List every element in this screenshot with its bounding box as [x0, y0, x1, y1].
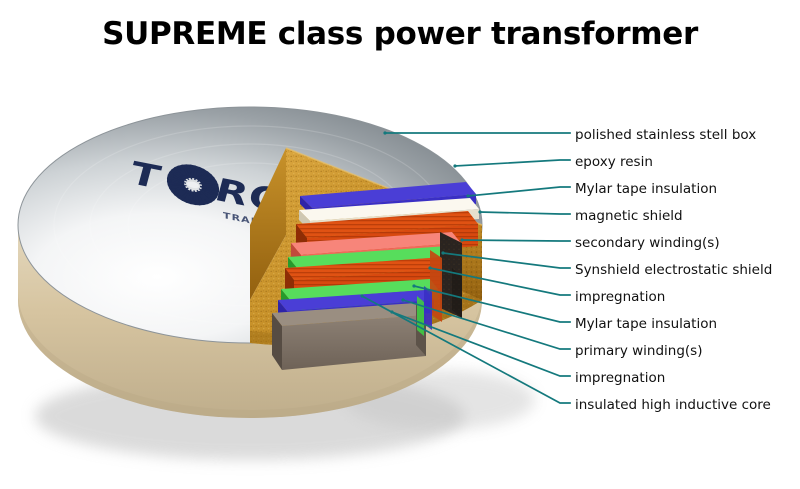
leader-line	[455, 160, 570, 166]
leader-anchor-dot	[460, 238, 463, 241]
callout-label: Mylar tape insulation	[575, 182, 717, 196]
leader-anchor-dot	[383, 131, 386, 134]
logo-wordmark: T	[131, 154, 163, 197]
leader-line	[468, 187, 570, 196]
leader-anchor-dot	[453, 164, 456, 167]
callout-label: polished stainless stell box	[575, 128, 756, 142]
leader-anchor-dot	[428, 266, 431, 269]
callout-label: secondary winding(s)	[575, 236, 720, 250]
callout-label: impregnation	[575, 290, 665, 304]
callout-label: insulated high inductive core	[575, 398, 771, 412]
leader-anchor-dot	[412, 284, 415, 287]
leader-anchor-dot	[441, 251, 444, 254]
callout-label: magnetic shield	[575, 209, 683, 223]
diagram-canvas: SUPREME class power transformer	[0, 0, 800, 489]
callout-label: Synshield electrostatic shield	[575, 263, 772, 277]
leader-line	[480, 212, 570, 214]
callout-label: primary winding(s)	[575, 344, 703, 358]
callout-label: impregnation	[575, 371, 665, 385]
leader-anchor-dot	[401, 298, 404, 301]
callout-label: epoxy resin	[575, 155, 653, 169]
leader-anchor-dot	[466, 194, 469, 197]
stack-cut-end-face	[440, 232, 462, 318]
leader-line	[462, 240, 570, 241]
leader-anchor-dot	[478, 210, 481, 213]
callout-label: Mylar tape insulation	[575, 317, 717, 331]
stack-edge-green	[417, 296, 424, 336]
leader-anchor-dot	[360, 294, 363, 297]
